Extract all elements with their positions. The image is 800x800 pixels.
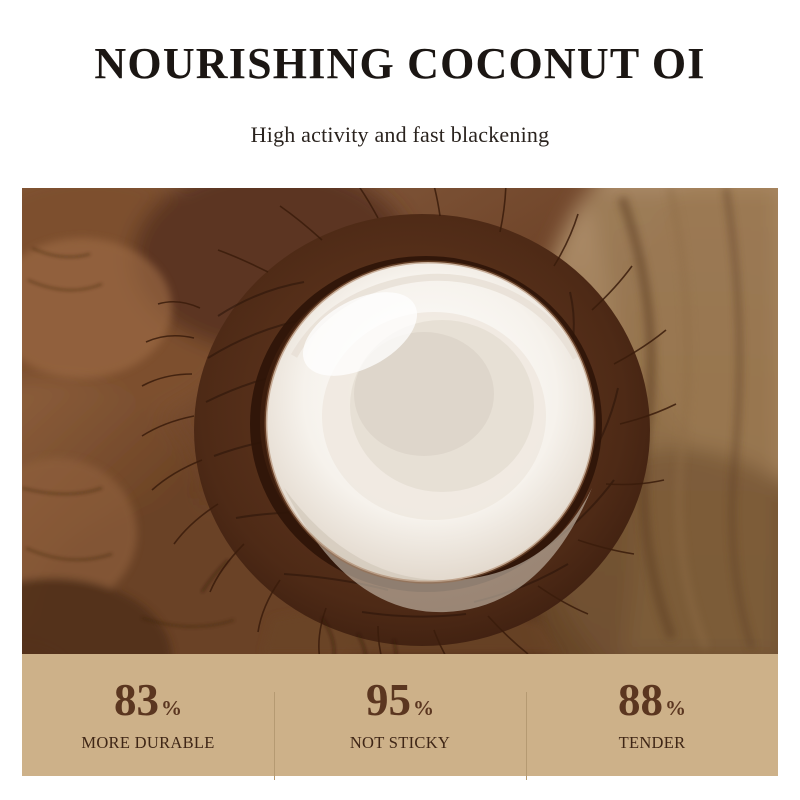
stat-label: MORE DURABLE xyxy=(22,733,274,753)
stats-band: 83% MORE DURABLE 95% NOT STICKY 88% TEND… xyxy=(22,654,778,776)
page-title: NOURISHING COCONUT OI xyxy=(0,38,800,89)
stat-unit: % xyxy=(413,696,434,721)
stat-unit: % xyxy=(161,696,182,721)
stat-value: 95 xyxy=(366,678,411,723)
stat-unit: % xyxy=(665,696,686,721)
stat-item-1: 95% NOT STICKY xyxy=(274,678,526,753)
stat-item-0: 83% MORE DURABLE xyxy=(22,678,274,753)
coconut-photo xyxy=(22,188,778,654)
stat-label: NOT STICKY xyxy=(274,733,526,753)
page-subtitle: High activity and fast blackening xyxy=(0,122,800,148)
stat-item-2: 88% TENDER xyxy=(526,678,778,753)
coconut-photo-illustration xyxy=(22,188,778,654)
product-banner: NOURISHING COCONUT OI High activity and … xyxy=(0,0,800,800)
stat-value: 83 xyxy=(114,678,159,723)
stat-label: TENDER xyxy=(526,733,778,753)
stat-value: 88 xyxy=(618,678,663,723)
